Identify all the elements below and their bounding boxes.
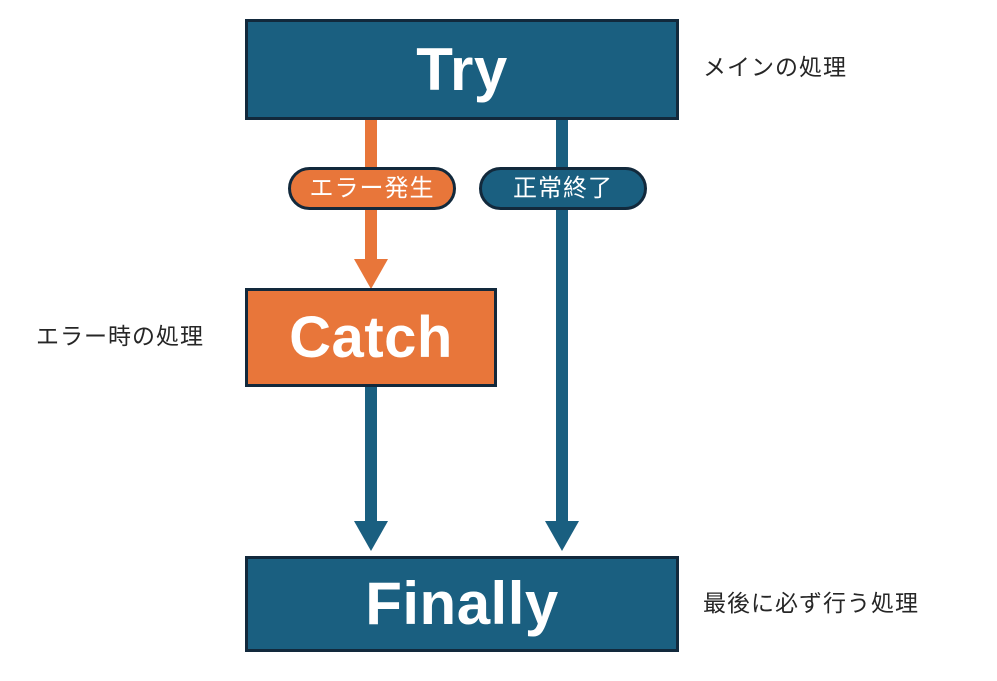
edge-badge-normal[interactable]: 正常終了: [479, 167, 647, 210]
edge-badge-normal-label: 正常終了: [513, 177, 613, 201]
caption-try: メインの処理: [703, 54, 847, 82]
edge-badge-error-label: エラー発生: [310, 177, 435, 201]
node-catch-label: Catch: [289, 309, 453, 367]
edge-line-catch-to-finally: [365, 386, 377, 531]
caption-catch: エラー時の処理: [36, 323, 204, 351]
caption-finally: 最後に必ず行う処理: [703, 590, 919, 618]
node-finally[interactable]: Finally: [245, 556, 679, 652]
node-finally-label: Finally: [365, 574, 559, 634]
node-try[interactable]: Try: [245, 19, 679, 120]
node-try-label: Try: [416, 40, 508, 100]
diagram-canvas: Try Catch Finally エラー発生 正常終了 メインの処理 エラー時…: [0, 0, 997, 681]
node-catch[interactable]: Catch: [245, 288, 497, 387]
arrowhead-try-to-catch: [354, 259, 388, 289]
arrowhead-catch-to-finally: [354, 521, 388, 551]
arrowhead-try-to-finally: [545, 521, 579, 551]
edge-badge-error[interactable]: エラー発生: [288, 167, 456, 210]
